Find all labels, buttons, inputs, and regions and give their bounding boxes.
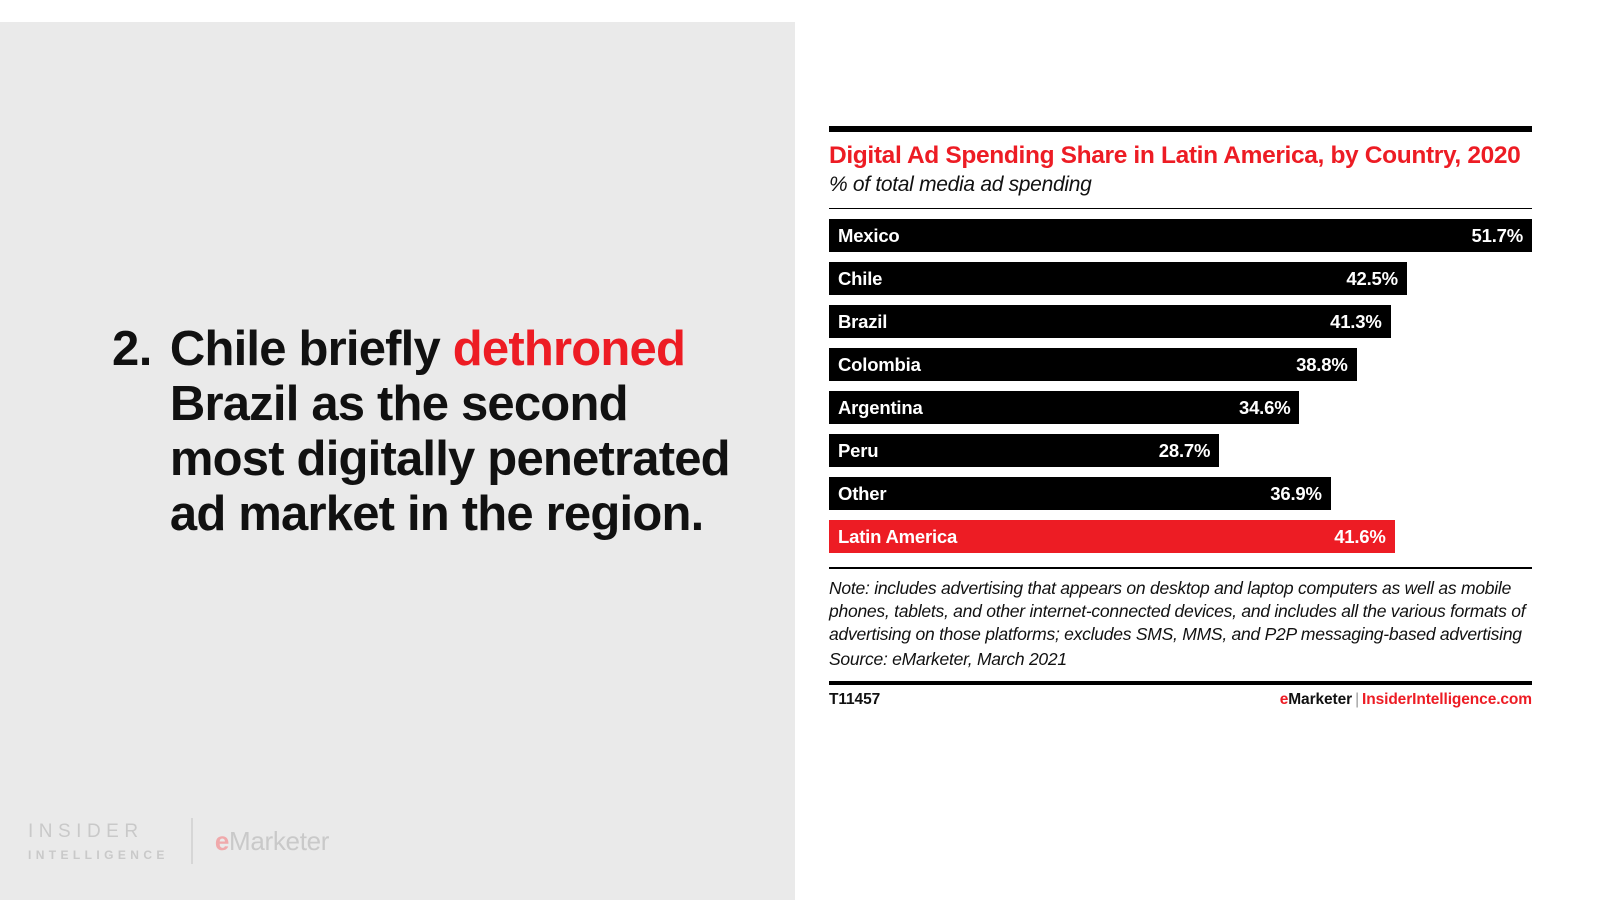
emarketer-logo: eMarketer	[215, 826, 329, 857]
left-panel: 2. Chile briefly dethroned Brazil as the…	[0, 22, 795, 900]
bar-row: Peru28.7%	[829, 434, 1532, 467]
bar: Mexico51.7%	[829, 219, 1532, 252]
bar-value: 41.3%	[1330, 311, 1381, 333]
headline-part1: Chile briefly	[170, 322, 453, 376]
logo-divider	[191, 818, 193, 864]
headline-emphasis: dethroned	[453, 322, 685, 376]
chart-note: Note: includes advertising that appears …	[829, 577, 1532, 647]
bar-label: Brazil	[838, 311, 887, 333]
footer-brand-marketer: Marketer	[1288, 691, 1352, 708]
emarketer-logo-rest: Marketer	[229, 826, 329, 856]
chart-footer-rule	[829, 567, 1532, 569]
chart-panel: Digital Ad Spending Share in Latin Ameri…	[829, 126, 1532, 709]
chart-notes: Note: includes advertising that appears …	[829, 577, 1532, 671]
bar-row: Chile42.5%	[829, 262, 1532, 295]
bar-row: Other36.9%	[829, 477, 1532, 510]
headline-part2: Brazil as the second most digitally pene…	[170, 377, 730, 541]
bar-row: Brazil41.3%	[829, 305, 1532, 338]
headline-number: 2.	[112, 322, 152, 377]
insider-logo-bottom-line: INTELLIGENCE	[28, 848, 169, 862]
bar-value: 34.6%	[1239, 397, 1290, 419]
chart-header-rule	[829, 208, 1532, 210]
bar-row: Latin America41.6%	[829, 520, 1532, 553]
bar-value: 38.8%	[1296, 354, 1347, 376]
headline-block: 2. Chile briefly dethroned Brazil as the…	[112, 322, 732, 542]
footer-brand-separator: |	[1352, 691, 1362, 708]
bar: Chile42.5%	[829, 262, 1407, 295]
bar-label: Latin America	[838, 526, 957, 548]
bar-label: Chile	[838, 268, 882, 290]
chart-title: Digital Ad Spending Share in Latin Ameri…	[829, 141, 1532, 170]
bar-value: 42.5%	[1346, 268, 1397, 290]
chart-top-rule	[829, 126, 1532, 132]
footer-brand-e: e	[1280, 691, 1289, 708]
chart-footer: T11457 eMarketer|InsiderIntelligence.com	[829, 691, 1532, 709]
bar-label: Argentina	[838, 397, 923, 419]
bar: Brazil41.3%	[829, 305, 1391, 338]
bar-value: 41.6%	[1334, 526, 1385, 548]
headline-text: Chile briefly dethroned Brazil as the se…	[170, 322, 732, 542]
bar-row: Colombia38.8%	[829, 348, 1532, 381]
bar-row: Argentina34.6%	[829, 391, 1532, 424]
bar-label: Other	[838, 483, 886, 505]
bar: Argentina34.6%	[829, 391, 1299, 424]
bar: Other36.9%	[829, 477, 1331, 510]
insider-intelligence-emarketer-logo: INSIDER INTELLIGENCE eMarketer	[28, 818, 329, 864]
bar-value: 36.9%	[1270, 483, 1321, 505]
bar-label: Colombia	[838, 354, 921, 376]
chart-subtitle: % of total media ad spending	[829, 172, 1532, 198]
bar-label: Mexico	[838, 225, 900, 247]
chart-source: Source: eMarketer, March 2021	[829, 648, 1532, 671]
emarketer-logo-e: e	[215, 826, 229, 856]
bar: Colombia38.8%	[829, 348, 1357, 381]
bar-value: 51.7%	[1472, 225, 1523, 247]
bar: Peru28.7%	[829, 434, 1219, 467]
bar-chart: Mexico51.7%Chile42.5%Brazil41.3%Colombia…	[829, 219, 1532, 553]
chart-bottom-rule	[829, 681, 1532, 686]
chart-footer-brand: eMarketer|InsiderIntelligence.com	[1280, 691, 1532, 709]
bar-highlight: Latin America41.6%	[829, 520, 1395, 553]
bar-row: Mexico51.7%	[829, 219, 1532, 252]
insider-logo-top-line: INSIDER	[28, 821, 169, 843]
chart-id: T11457	[829, 691, 880, 709]
footer-brand-website: InsiderIntelligence.com	[1362, 691, 1532, 708]
bar-value: 28.7%	[1159, 440, 1210, 462]
bar-label: Peru	[838, 440, 878, 462]
insider-intelligence-logo: INSIDER INTELLIGENCE	[28, 821, 169, 862]
